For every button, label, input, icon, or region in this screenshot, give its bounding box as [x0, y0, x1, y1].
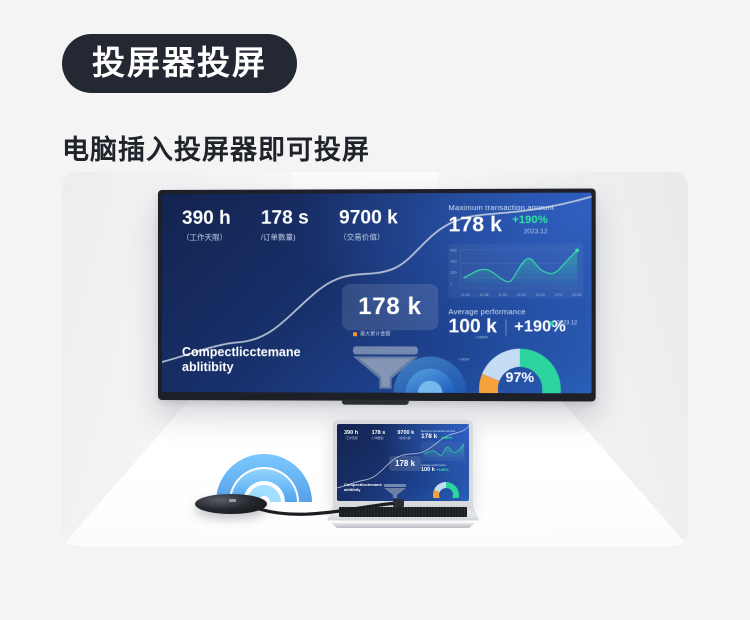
laptop-center-metric: 178 k — [389, 456, 421, 471]
kpi-sublabel: /订单数量) — [261, 232, 309, 243]
dashboard-caption: Compectlicctemane ablitibity — [182, 345, 301, 377]
laptop-line-chart — [421, 442, 465, 461]
kpi-value: 9700 k — [339, 208, 398, 228]
max-transaction-delta: +190% — [512, 215, 547, 226]
caster-led-icon — [229, 499, 236, 502]
x-tick: 12.02 — [517, 293, 526, 297]
tv-stand — [342, 400, 409, 405]
wireless-screen-caster — [195, 472, 405, 520]
legend-swatch-icon — [353, 332, 357, 336]
line-chart-y-ticks: 400 300 200 1 — [450, 246, 456, 290]
section-subtitle: 电脑插入投屏器即可投屏 — [62, 128, 370, 167]
laptop-front-lip — [328, 523, 478, 528]
funnel-legend: 最大累计金额 — [353, 330, 390, 337]
max-transaction-row: 178 k +190% 2023.12 — [448, 214, 583, 236]
transaction-line-chart: 400 300 200 1 — [448, 243, 583, 298]
laptop-kpi-row: 390 h （工作天限） 178 s /订单数量) 9700 k （交易价值） — [344, 430, 414, 440]
center-metric-value: 178 k — [358, 293, 421, 320]
wifi-signal-icon — [211, 420, 317, 504]
line-chart-x-ticks: 12.06 12.08 11.09 12.02 12.03 1.P.0 12.0… — [461, 293, 582, 297]
funnel-shape — [339, 344, 432, 391]
laptop-avg-row: 100 k +190% — [421, 467, 465, 473]
x-tick: 1.P.0 — [554, 293, 562, 297]
tv-screen: 390 h （工作天限） 178 s /订单数量) 9700 k （交易价值） — [162, 193, 592, 394]
kpi-value: 390 h — [182, 209, 231, 229]
right-metrics-panel: Maximum transaction amount 178 k +190% 2… — [448, 203, 583, 337]
max-transaction-label: Maximum transaction amount — [448, 203, 583, 212]
center-metric-card: 178 k — [342, 284, 438, 330]
kpi-sublabel: （交易价值） — [339, 231, 398, 242]
product-scene: 390 h （工作天限） 178 s /订单数量) 9700 k （交易价值） — [62, 172, 688, 546]
laptop-kpi-sub: /订单数量) — [372, 436, 386, 440]
laptop-kpi-sub: （交易价值） — [397, 436, 414, 440]
x-tick: 11.09 — [498, 293, 507, 297]
y-tick: 300 — [450, 257, 456, 268]
laptop-avg-value: 100 k — [421, 467, 435, 473]
legend-dot-icon — [550, 321, 554, 325]
laptop-donut-chart — [428, 476, 464, 498]
donut-center-value: 97% — [506, 369, 535, 385]
funnel-chart: 最大累计金额 — [339, 330, 432, 391]
laptop-kpi-item: 390 h （工作天限） — [344, 430, 360, 440]
max-transaction-value: 178 k — [448, 214, 502, 235]
kpi-sublabel: （工作天限） — [182, 232, 231, 243]
kpi-item: 178 s /订单数量) — [261, 209, 309, 243]
y-tick: 200 — [450, 268, 456, 279]
dashboard-caption-text: Compectlicctemane ablitibity — [182, 345, 301, 375]
usb-cable — [257, 499, 407, 517]
tv-bezel: 390 h （工作天限） 178 s /订单数量) 9700 k （交易价值） — [158, 189, 596, 402]
laptop-kpi-item: 178 s /订单数量) — [372, 430, 386, 440]
tv-display: 390 h （工作天限） 178 s /订单数量) 9700 k （交易价值） — [158, 189, 596, 402]
laptop-max-delta: +190% — [441, 436, 452, 440]
x-tick: 12.08 — [479, 293, 488, 297]
laptop-kpi-sub: （工作天限） — [344, 436, 360, 440]
max-transaction-date: 2023.12 — [512, 228, 547, 235]
kpi-item: 9700 k （交易价值） — [339, 208, 398, 242]
x-tick: 12.06 — [461, 293, 470, 297]
x-tick: 12.03 — [572, 293, 581, 297]
laptop-kpi-item: 9700 k （交易价值） — [397, 430, 414, 440]
x-tick: 12.03 — [535, 293, 544, 297]
line-chart-plot — [448, 243, 583, 298]
section-badge: 投屏器投屏 — [62, 34, 297, 93]
y-tick: 1 — [450, 279, 456, 290]
funnel-legend-label: 最大累计金额 — [360, 330, 390, 337]
kpi-value: 178 s — [261, 209, 309, 229]
y-tick: 400 — [450, 246, 456, 257]
kpi-row: 390 h （工作天限） 178 s /订单数量) 9700 k （交易价值） — [182, 208, 398, 243]
kpi-item: 390 h （工作天限） — [182, 209, 231, 243]
laptop-avg-delta: +190% — [436, 467, 449, 472]
laptop-max-value: 178 k — [421, 433, 437, 440]
laptop-right-panel: Maximum transaction amount 178 k +190% — [421, 430, 465, 473]
dashboard: 390 h （工作天限） 178 s /订单数量) 9700 k （交易价值） — [162, 193, 592, 394]
donut-chart: 2023.12 +190% +70% 97% — [459, 322, 582, 391]
average-performance-label: Average performance — [448, 307, 583, 316]
